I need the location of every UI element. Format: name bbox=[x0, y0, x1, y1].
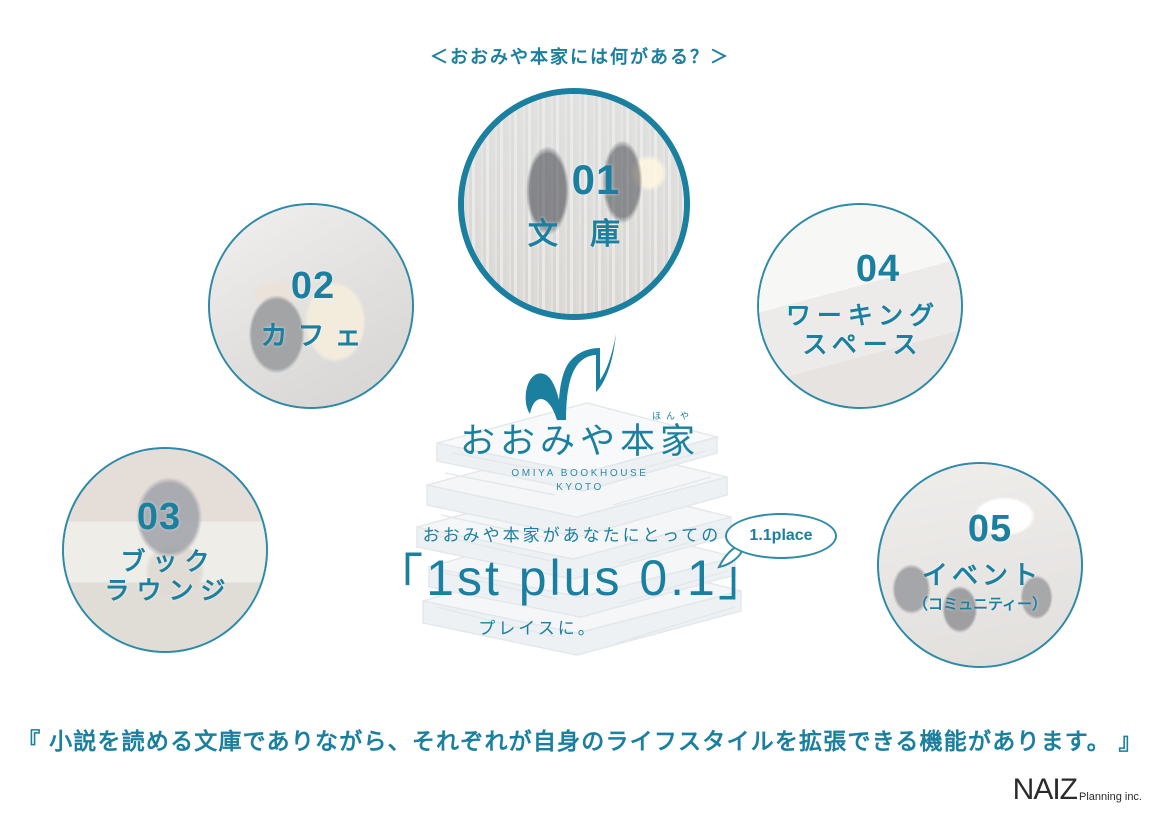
circle-01-bunko[interactable]: 01 文 庫 bbox=[458, 88, 690, 320]
tagline-line2: 「1st plus 0.1」 bbox=[0, 550, 1152, 608]
tagline-line3: プレイスに。 bbox=[0, 614, 1118, 639]
naiz-brand-subtitle: Planning inc. bbox=[1079, 791, 1142, 803]
circle-04-title-line1: ワーキング bbox=[759, 302, 961, 332]
circle-02-labels: 02 カフェ bbox=[210, 271, 412, 341]
speech-bubble: 1.1place bbox=[725, 513, 837, 559]
naiz-planning-logo: NAIZ Planning inc. bbox=[1013, 773, 1142, 807]
circle-02-number: 02 bbox=[212, 267, 414, 305]
slide-canvas: ＜おおみや本家には何がある？＞ 01 文 庫 02 カフェ 03 ブック ラウン… bbox=[0, 0, 1160, 819]
tagline-line1: おおみや本家があなたにとっての bbox=[0, 521, 1152, 546]
circle-04-labels: 04 ワーキング スペース bbox=[759, 258, 961, 355]
naiz-brand-mark: NAIZ bbox=[1013, 773, 1077, 807]
circle-01-labels: 01 文 庫 bbox=[464, 165, 684, 242]
page-title: ＜おおみや本家には何がある？＞ bbox=[0, 43, 1160, 69]
speech-bubble-text: 1.1place bbox=[749, 527, 812, 545]
circle-02-cafe[interactable]: 02 カフェ bbox=[208, 203, 414, 409]
circle-01-number: 01 bbox=[486, 159, 690, 201]
circle-01-title: 文 庫 bbox=[464, 217, 684, 252]
speech-bubble-body: 1.1place bbox=[725, 513, 837, 559]
circle-04-number: 04 bbox=[777, 250, 963, 288]
tagline-block: おおみや本家があなたにとっての 「1st plus 0.1」 プレイスに。 bbox=[0, 521, 1160, 639]
bottom-caption: 『 小説を読める文庫でありながら、それぞれが自身のライフスタイルを拡張できる機能… bbox=[0, 722, 1160, 756]
circle-02-title: カフェ bbox=[210, 321, 412, 353]
circle-04-title-line2: スペース bbox=[759, 331, 961, 361]
circle-04-working-space[interactable]: 04 ワーキング スペース bbox=[757, 203, 963, 409]
